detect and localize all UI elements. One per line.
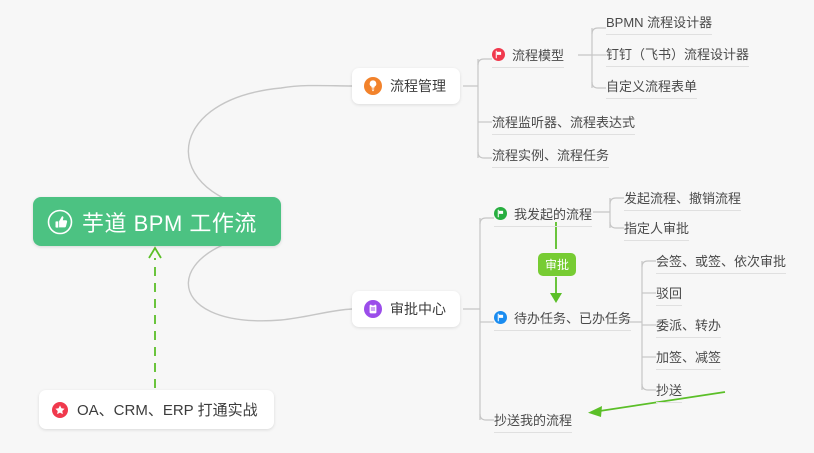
branch-label: 审批中心 bbox=[390, 299, 446, 319]
leaf-node-delegate-transfer[interactable]: 委派、转办 bbox=[656, 315, 721, 338]
leaf-node-cc-my-process[interactable]: 抄送我的流程 bbox=[494, 410, 572, 433]
leaf-node-sign-modes[interactable]: 会签、或签、依次审批 bbox=[656, 251, 786, 274]
lightbulb-icon bbox=[364, 77, 382, 95]
leaf-node-add-remove-sign[interactable]: 加签、减签 bbox=[656, 347, 721, 370]
annotation-arrow-callout-head bbox=[149, 248, 161, 258]
link-pm-trunk bbox=[463, 59, 478, 158]
branch-label: 流程管理 bbox=[390, 76, 446, 96]
leaf-node-custom-form[interactable]: 自定义流程表单 bbox=[606, 76, 697, 99]
branch-node-process-management[interactable]: 流程管理 bbox=[352, 68, 460, 104]
root-node[interactable]: 芋道 BPM 工作流 bbox=[33, 197, 281, 246]
topic-label: 我发起的流程 bbox=[514, 204, 592, 223]
link-ac-child-1 bbox=[480, 218, 494, 224]
link-model-trunk bbox=[578, 28, 592, 88]
link-pm-child-1 bbox=[478, 59, 492, 65]
link-root-to-process-management bbox=[188, 86, 352, 213]
callout-label: OA、CRM、ERP 打通实战 bbox=[77, 399, 258, 420]
link-model-child-1 bbox=[592, 28, 606, 34]
link-my-child-1 bbox=[610, 198, 624, 204]
leaf-node-instance-task[interactable]: 流程实例、流程任务 bbox=[492, 145, 609, 168]
flag-icon bbox=[494, 207, 507, 220]
topic-label: 待办任务、已办任务 bbox=[514, 308, 631, 327]
link-my-trunk bbox=[593, 198, 610, 228]
leaf-node-reject[interactable]: 驳回 bbox=[656, 283, 682, 306]
topic-node-my-started-process[interactable]: 我发起的流程 bbox=[494, 204, 592, 227]
annotation-arrow-cc-head bbox=[588, 406, 602, 417]
root-node-label: 芋道 BPM 工作流 bbox=[82, 206, 257, 238]
clipboard-icon bbox=[364, 300, 382, 318]
link-todo-child-1 bbox=[642, 261, 656, 267]
leaf-node-assignee-approval[interactable]: 指定人审批 bbox=[624, 218, 689, 241]
link-todo-child-5 bbox=[642, 384, 656, 390]
mindmap-canvas: 芋道 BPM 工作流 流程管理 流程模型 流程监听器、流程表达式 流程实例、流程… bbox=[0, 0, 814, 453]
flag-icon bbox=[494, 311, 507, 324]
topic-node-process-model[interactable]: 流程模型 bbox=[492, 45, 564, 68]
link-model-child-3 bbox=[592, 82, 606, 88]
leaf-node-bpmn-designer[interactable]: BPMN 流程设计器 bbox=[606, 12, 712, 35]
annotation-chip-approval: 审批 bbox=[538, 253, 576, 276]
leaf-node-listener-expression[interactable]: 流程监听器、流程表达式 bbox=[492, 112, 635, 135]
callout-node-integration[interactable]: OA、CRM、ERP 打通实战 bbox=[39, 390, 274, 429]
annotation-arrow-approval-head bbox=[550, 293, 562, 303]
leaf-node-carbon-copy[interactable]: 抄送 bbox=[656, 380, 682, 403]
branch-node-approval-center[interactable]: 审批中心 bbox=[352, 291, 460, 327]
link-ac-child-3 bbox=[480, 414, 494, 420]
leaf-node-start-cancel-process[interactable]: 发起流程、撤销流程 bbox=[624, 188, 741, 211]
topic-node-todo-done-task[interactable]: 待办任务、已办任务 bbox=[494, 308, 631, 331]
topic-label: 流程模型 bbox=[512, 45, 564, 64]
flag-icon bbox=[492, 48, 505, 61]
link-ac-trunk bbox=[463, 218, 480, 420]
link-pm-child-3 bbox=[478, 152, 492, 158]
leaf-node-dingtalk-designer[interactable]: 钉钉（飞书）流程设计器 bbox=[606, 44, 749, 67]
star-icon bbox=[52, 402, 68, 418]
link-my-child-2 bbox=[610, 222, 624, 228]
thumbs-up-icon bbox=[47, 209, 73, 235]
